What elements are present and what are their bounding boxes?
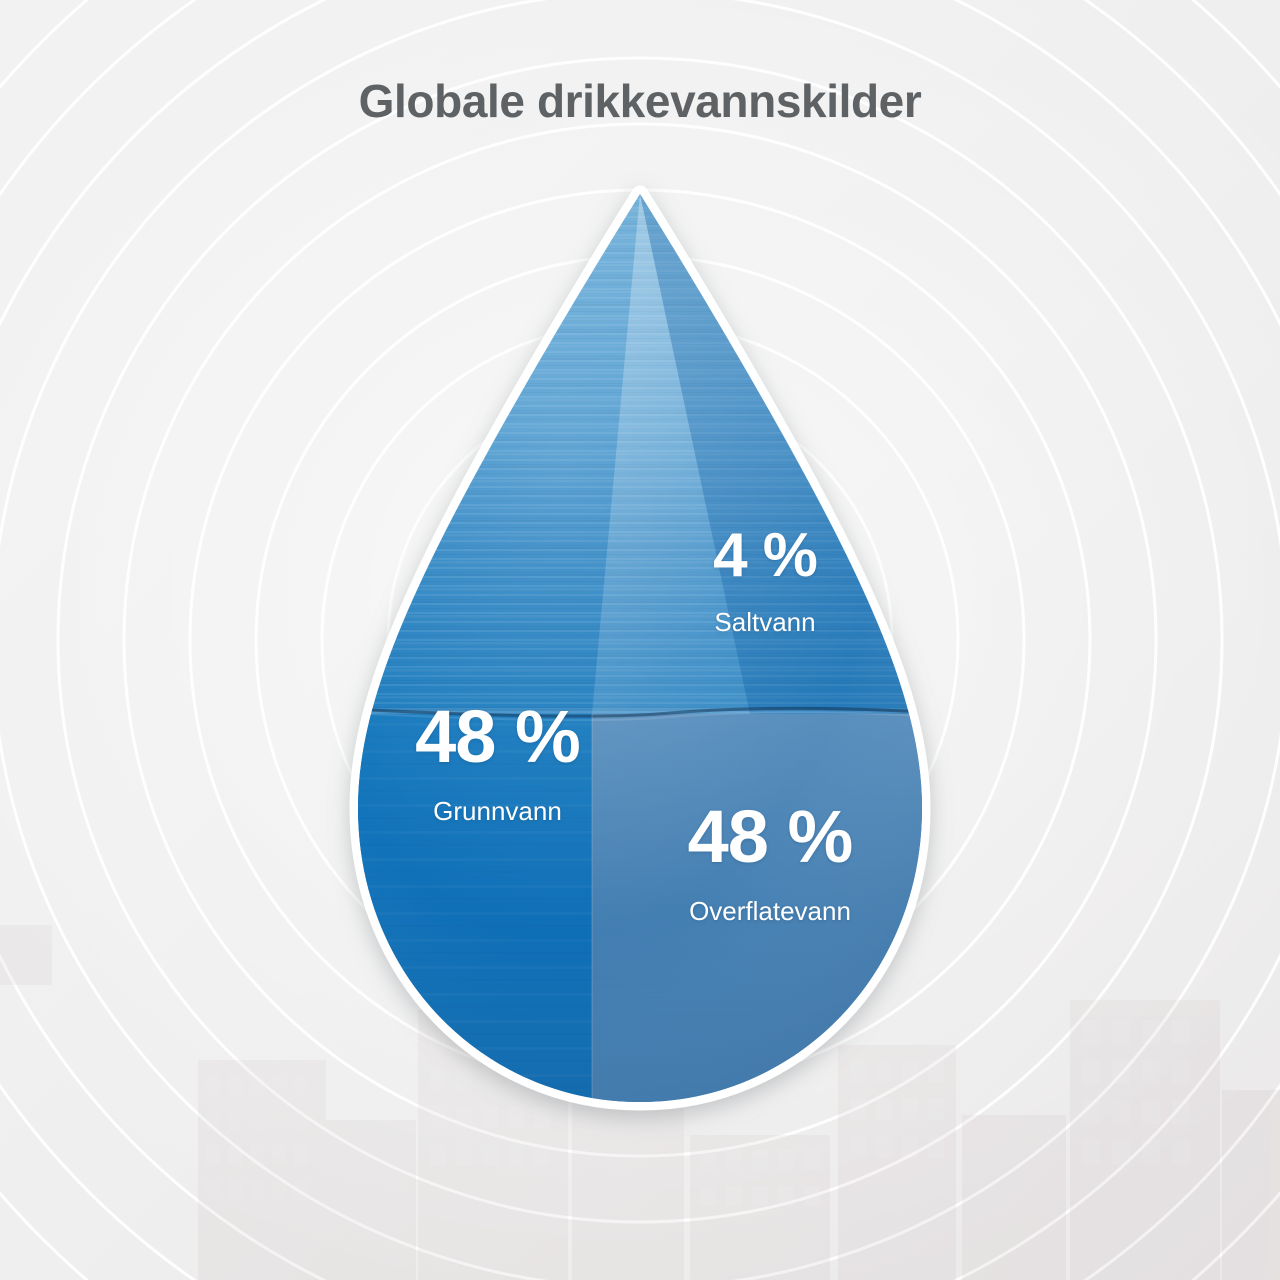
droplet-segments <box>330 180 950 1120</box>
page-title: Globale drikkevannskilder <box>0 74 1280 128</box>
water-droplet-chart <box>330 180 950 1120</box>
droplet-svg <box>330 180 950 1120</box>
infographic-canvas: Globale drikkevannskilder <box>0 0 1280 1280</box>
